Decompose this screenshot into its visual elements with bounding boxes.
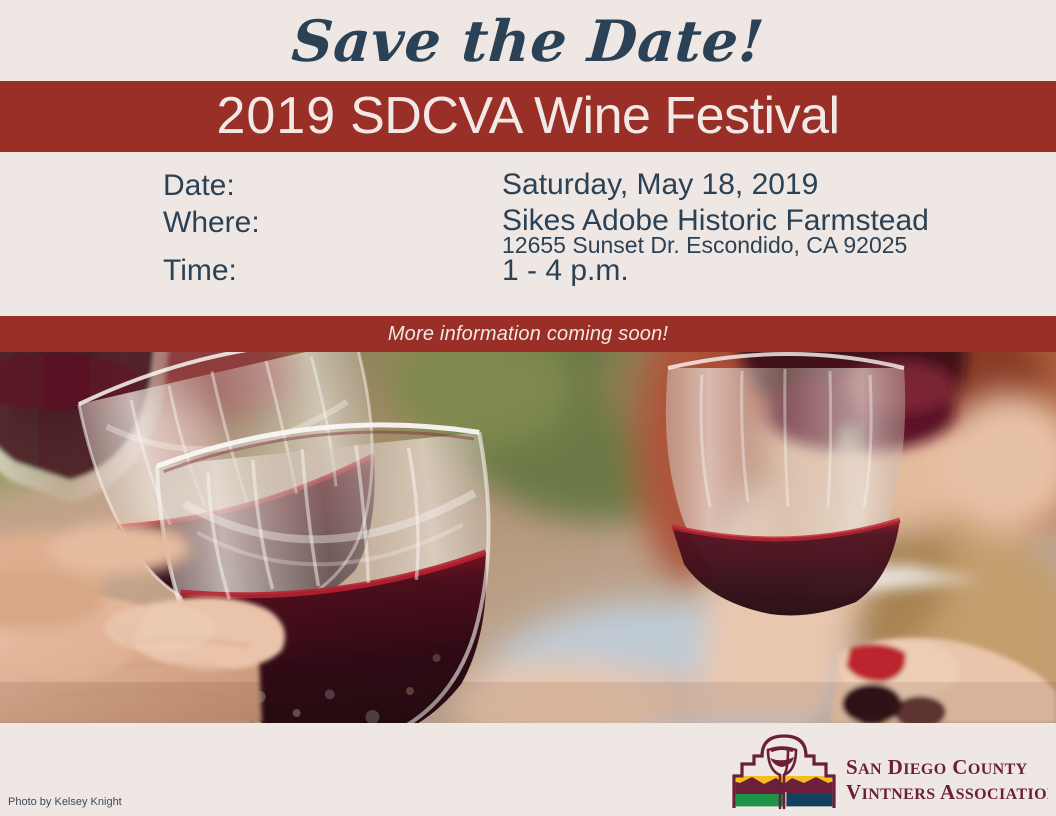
headline-zone: Save the Date! — [0, 0, 1056, 81]
detail-value-time: 1 - 4 p.m. — [502, 254, 629, 288]
wine-toast-photo — [0, 352, 1056, 723]
photo-credit: Photo by Kelsey Knight — [8, 796, 122, 808]
page-title: Save the Date! — [290, 13, 766, 70]
note-band: More information coming soon! — [0, 316, 1056, 352]
logo-line-1: SAN DIEGO COUNTY — [846, 755, 1028, 779]
event-title: 2019 SDCVA Wine Festival — [216, 90, 839, 142]
sdcva-adobe-wineglass-mark — [728, 736, 840, 810]
title-band: 2019 SDCVA Wine Festival — [0, 81, 1056, 152]
event-details: Date: Saturday, May 18, 2019 Where: Sike… — [0, 152, 1056, 316]
detail-label-time: Time: — [163, 254, 237, 288]
sdcva-logo[interactable]: SAN DIEGO COUNTY VINTNERS ASSOCIATION — [728, 732, 1048, 812]
detail-value-date: Saturday, May 18, 2019 — [502, 168, 818, 202]
coming-soon-note: More information coming soon! — [388, 323, 668, 346]
event-title-year: 2019 — [216, 87, 336, 145]
event-title-name: SDCVA Wine Festival — [336, 87, 839, 145]
wine-toast-illustration — [0, 352, 1056, 723]
footer: Photo by Kelsey Knight — [0, 723, 1056, 816]
flyer-canvas: Save the Date! 2019 SDCVA Wine Festival … — [0, 0, 1056, 816]
detail-label-date: Date: — [163, 169, 235, 203]
logo-line-2: VINTNERS ASSOCIATION — [846, 780, 1048, 804]
detail-label-where: Where: — [163, 206, 260, 240]
